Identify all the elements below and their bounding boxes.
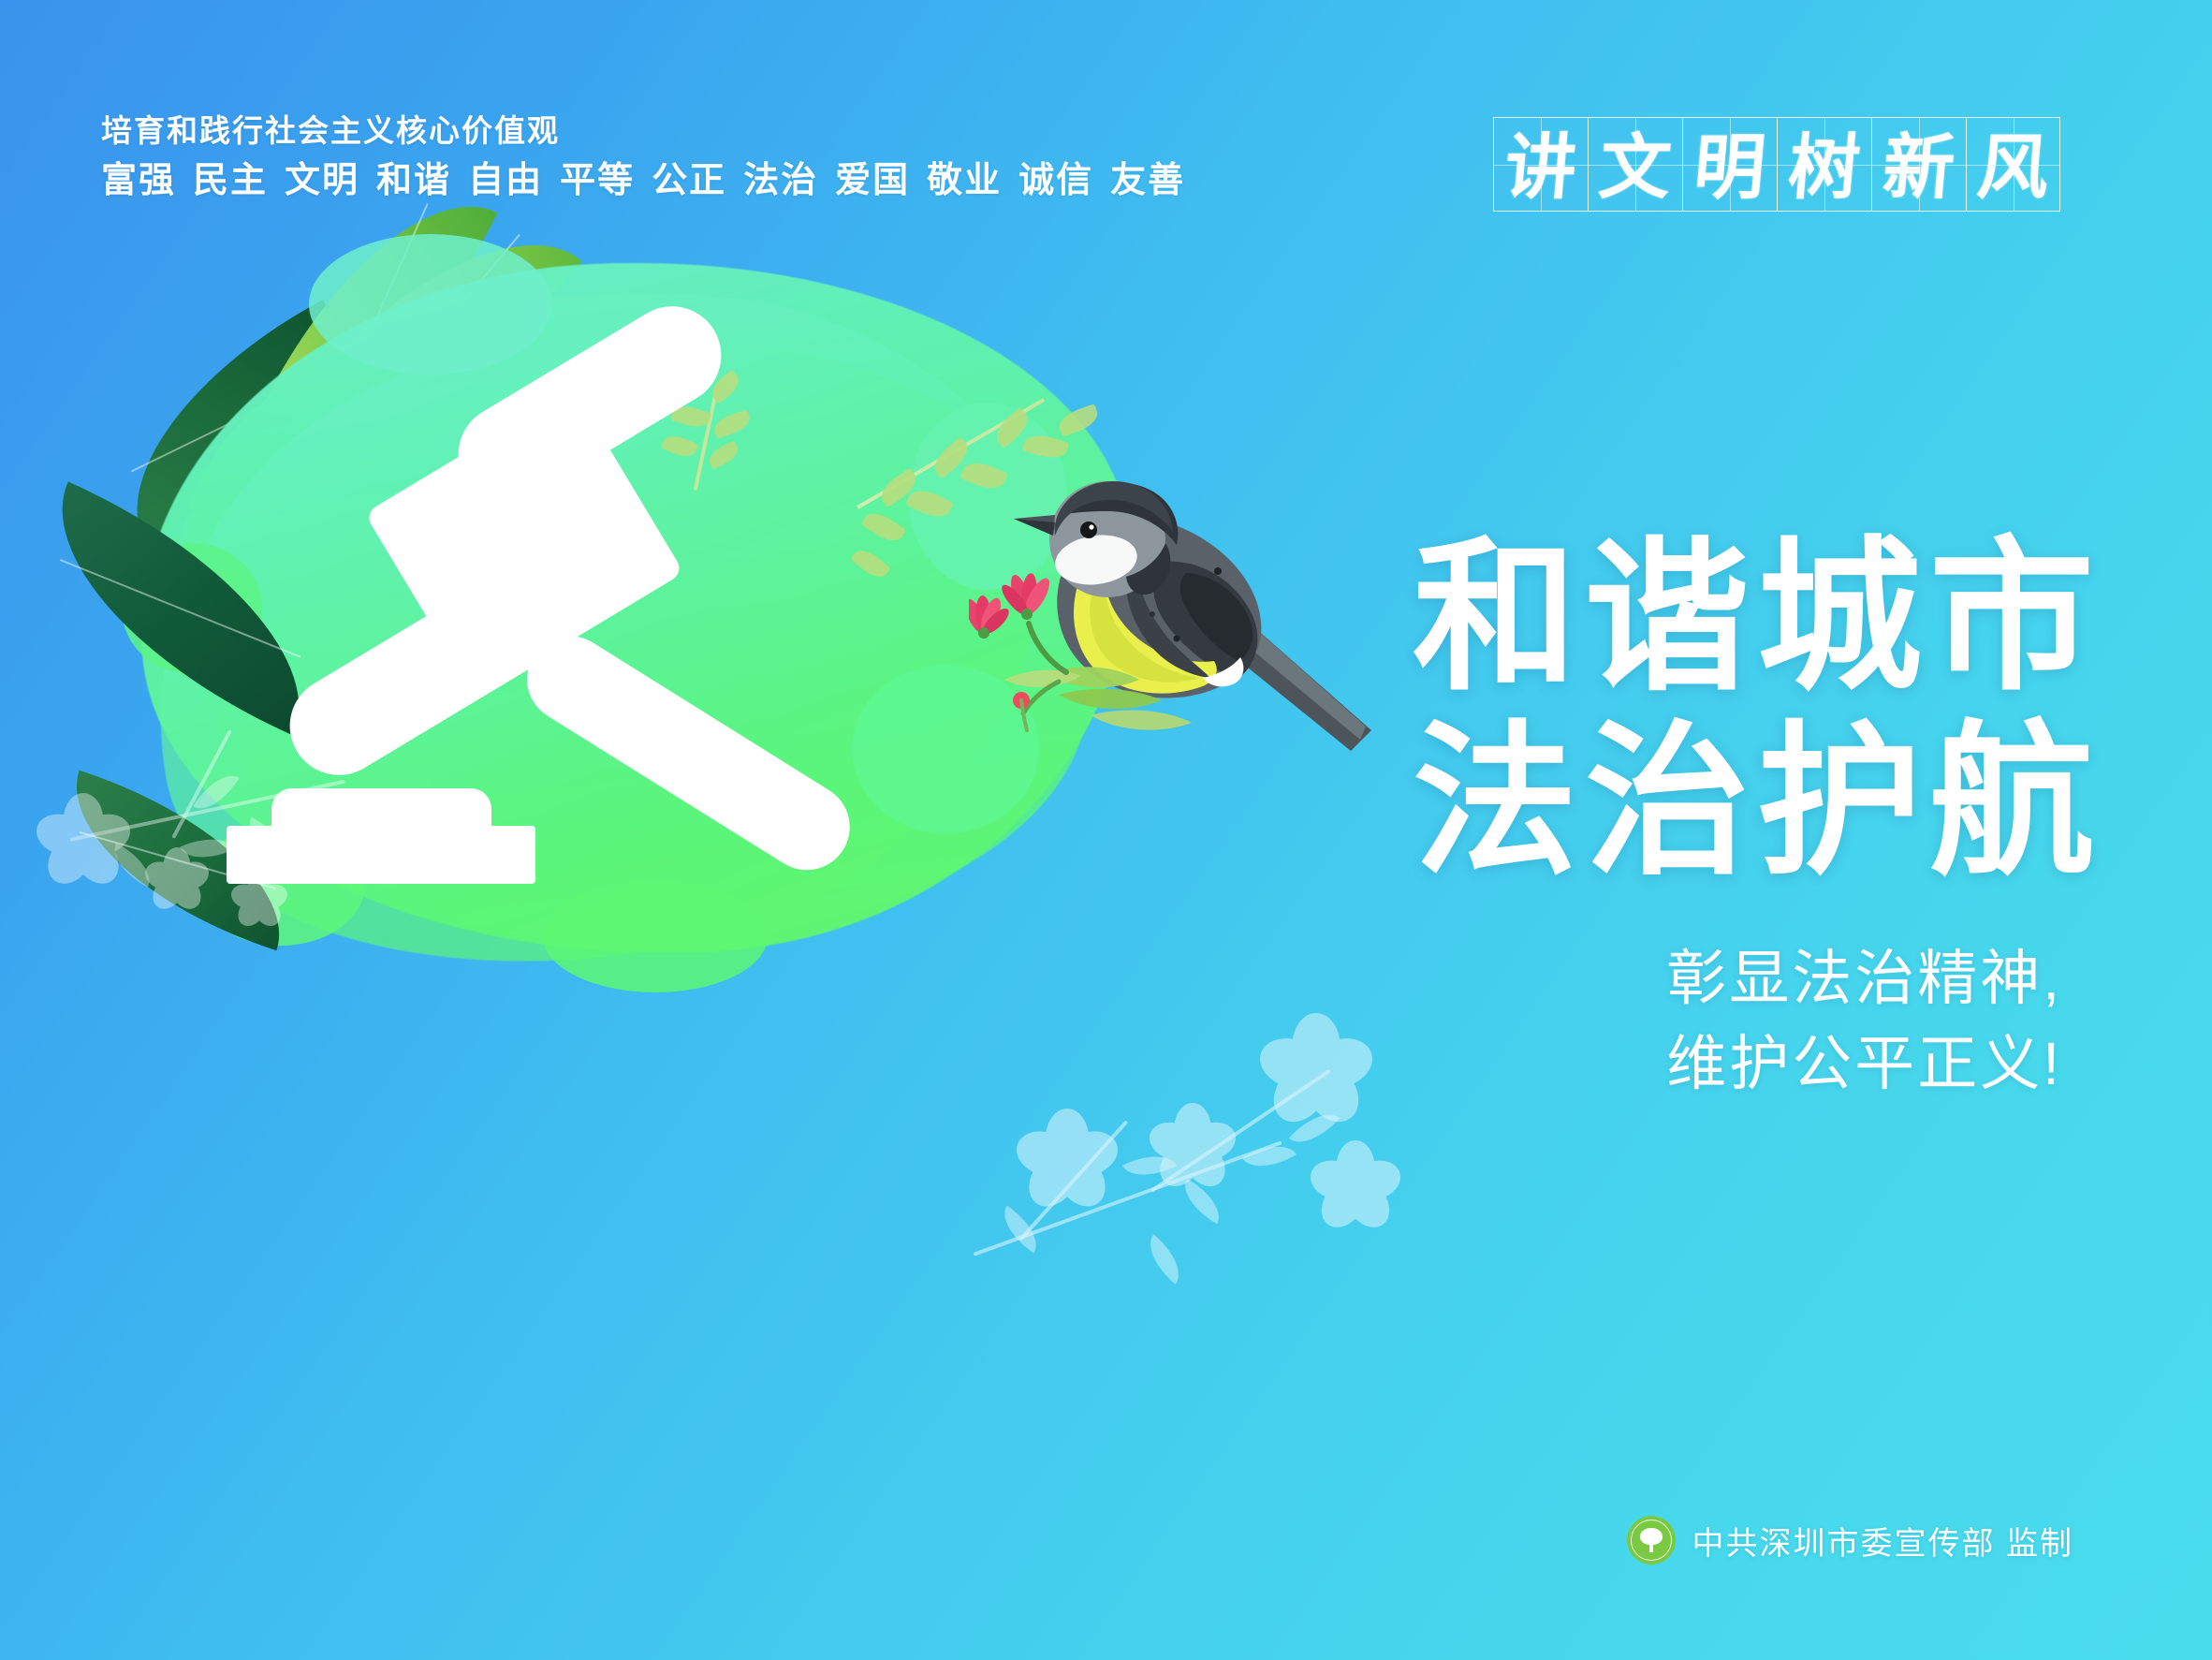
core-value-item: 文明 (285, 161, 359, 200)
core-value-item: 敬业 (927, 161, 1002, 200)
core-values-list: 富强民主文明和谐自由平等公正法治爱国敬业诚信友善 (101, 161, 1185, 202)
pale-flower (1143, 1096, 1242, 1196)
brand-grid-char: 树 (1785, 132, 1863, 203)
pale-flower (1304, 1134, 1407, 1237)
brand-grid-char: 新 (1880, 132, 1957, 203)
core-values-block: 培育和践行社会主义核心价值观 富强民主文明和谐自由平等公正法治爱国敬业诚信友善 (101, 112, 1185, 201)
credit-block: 中共深圳市委宣传部 监制 (1627, 1516, 2073, 1565)
brand-slogan-grid: 讲 文 明 树 新 风 (1493, 117, 2060, 212)
brand-grid-cell: 明 (1682, 117, 1777, 212)
brand-grid-char: 风 (1974, 132, 2052, 203)
brand-grid-cell: 树 (1777, 117, 1871, 212)
core-value-item: 自由 (468, 161, 543, 200)
brand-grid-cell: 风 (1966, 117, 2060, 212)
core-value-item: 公正 (652, 161, 726, 200)
brand-grid-char: 明 (1691, 132, 1768, 203)
core-value-item: 和谐 (376, 161, 451, 200)
pale-vine-right (964, 1002, 1414, 1311)
headline-block: 和谐城市 法治护航 (1413, 526, 2102, 895)
brand-grid-char: 讲 (1502, 132, 1579, 203)
core-value-item: 友善 (1110, 161, 1185, 200)
brand-grid-char: 文 (1596, 132, 1674, 203)
subcopy-line-2: 维护公平正义! (1666, 1021, 2062, 1107)
subcopy-block: 彰显法治精神, 维护公平正义! (1666, 936, 2062, 1107)
core-value-item: 爱国 (835, 161, 910, 200)
public-service-advertising-seal-icon (1627, 1516, 1676, 1565)
brand-grid-cell: 文 (1588, 117, 1682, 212)
poster-canvas: 培育和践行社会主义核心价值观 富强民主文明和谐自由平等公正法治爱国敬业诚信友善 … (0, 0, 2212, 1660)
splash-blob (543, 880, 768, 992)
pale-flower (1009, 1101, 1125, 1217)
judge-gavel-icon (262, 346, 917, 871)
gavel-handle (511, 620, 866, 887)
subcopy-line-1: 彰显法治精神, (1666, 936, 2062, 1021)
gavel-sound-block-base (227, 826, 535, 884)
core-value-item: 法治 (743, 161, 818, 200)
credit-text: 中共深圳市委宣传部 监制 (1692, 1518, 2073, 1564)
core-value-item: 平等 (560, 161, 635, 200)
core-value-item: 诚信 (1018, 161, 1093, 200)
brand-grid-cell: 新 (1871, 117, 1966, 212)
core-values-heading: 培育和践行社会主义核心价值观 (101, 112, 1185, 150)
headline-line-1: 和谐城市 (1413, 526, 2102, 711)
core-value-item: 富强 (101, 161, 176, 200)
pale-flower (1252, 1005, 1381, 1134)
brand-grid-cell: 讲 (1493, 117, 1588, 212)
core-value-item: 民主 (193, 161, 268, 200)
headline-line-2: 法治护航 (1413, 711, 2102, 895)
great-tit-bird-illustration (969, 449, 1371, 758)
